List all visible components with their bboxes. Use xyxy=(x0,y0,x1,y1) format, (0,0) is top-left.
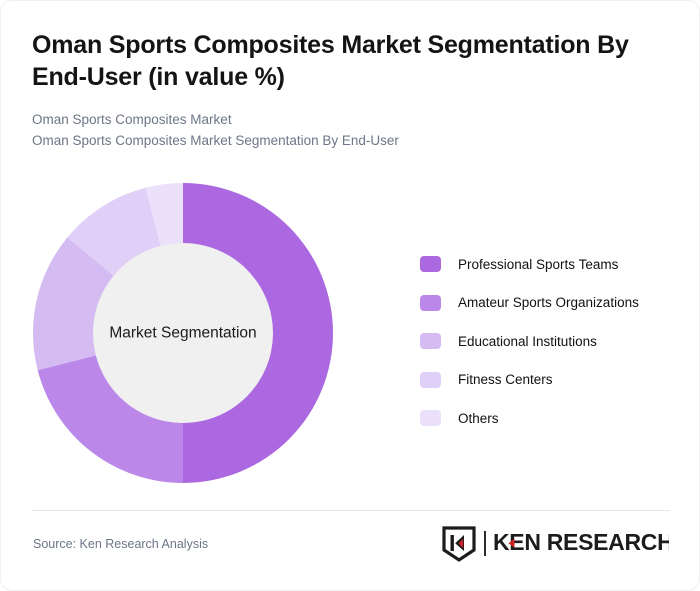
source-note: Source: Ken Research Analysis xyxy=(33,537,208,551)
ken-research-shield-icon xyxy=(440,524,478,562)
subtitle-line-2: Oman Sports Composites Market Segmentati… xyxy=(32,131,652,152)
subtitle-block: Oman Sports Composites Market Oman Sport… xyxy=(32,110,652,151)
brand-logo: KEN RESEARCH xyxy=(440,524,669,562)
chart-card: Oman Sports Composites Market Segmentati… xyxy=(0,0,700,591)
plot-area: Market Segmentation Professional Sports … xyxy=(1,171,700,501)
footer-divider xyxy=(32,510,670,511)
legend-item-label: Professional Sports Teams xyxy=(458,257,618,272)
legend-item-label: Educational Institutions xyxy=(458,334,597,349)
donut-svg xyxy=(33,183,333,483)
svg-text:KEN RESEARCH: KEN RESEARCH xyxy=(493,530,669,555)
chart-legend: Professional Sports TeamsAmateur Sports … xyxy=(420,245,680,438)
brand-divider xyxy=(484,531,486,556)
legend-item-label: Others xyxy=(458,411,499,426)
subtitle-line-1: Oman Sports Composites Market xyxy=(32,110,652,131)
legend-item[interactable]: Others xyxy=(420,399,680,438)
donut-center-circle xyxy=(93,243,273,423)
legend-swatch-icon xyxy=(420,372,441,388)
ken-research-wordmark: KEN RESEARCH xyxy=(493,530,669,556)
legend-item-label: Fitness Centers xyxy=(458,372,553,387)
legend-item[interactable]: Fitness Centers xyxy=(420,361,680,400)
legend-item-label: Amateur Sports Organizations xyxy=(458,295,639,310)
donut-chart: Market Segmentation xyxy=(33,183,333,483)
legend-swatch-icon xyxy=(420,333,441,349)
legend-swatch-icon xyxy=(420,295,441,311)
legend-item[interactable]: Amateur Sports Organizations xyxy=(420,284,680,323)
legend-swatch-icon xyxy=(420,410,441,426)
page-title: Oman Sports Composites Market Segmentati… xyxy=(32,29,652,93)
legend-item[interactable]: Professional Sports Teams xyxy=(420,245,680,284)
legend-swatch-icon xyxy=(420,256,441,272)
chart-header: Oman Sports Composites Market Segmentati… xyxy=(32,29,652,151)
legend-item[interactable]: Educational Institutions xyxy=(420,322,680,361)
